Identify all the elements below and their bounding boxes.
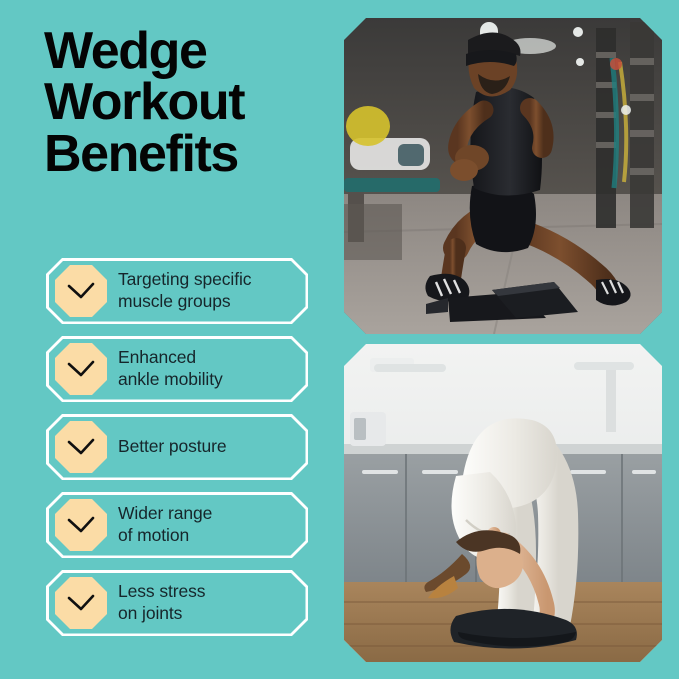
page-title-line-3: Benefits <box>44 129 344 180</box>
photo-forward-fold <box>344 344 662 662</box>
list-item-label: Better posture <box>118 436 235 458</box>
list-item-label: Wider range of motion <box>118 503 220 546</box>
page-title-line-2: Workout <box>44 77 344 128</box>
list-item-label: Enhanced ankle mobility <box>118 347 231 390</box>
check-icon <box>55 499 107 551</box>
list-item: Enhanced ankle mobility <box>46 336 308 402</box>
check-icon <box>55 265 107 317</box>
page-title: Wedge Workout Benefits <box>44 26 344 180</box>
photo-gym-lunge <box>344 18 662 334</box>
check-icon <box>55 577 107 629</box>
check-icon <box>55 421 107 473</box>
benefits-list: Targeting specific muscle groups Enhance… <box>46 258 308 648</box>
page-title-line-1: Wedge <box>44 26 344 77</box>
list-item: Better posture <box>46 414 308 480</box>
list-item: Wider range of motion <box>46 492 308 558</box>
infographic-canvas: Wedge Workout Benefits Targeting specifi… <box>0 0 679 679</box>
check-icon <box>55 343 107 395</box>
list-item-label: Less stress on joints <box>118 581 213 624</box>
list-item: Less stress on joints <box>46 570 308 636</box>
list-item: Targeting specific muscle groups <box>46 258 308 324</box>
list-item-label: Targeting specific muscle groups <box>118 269 259 312</box>
